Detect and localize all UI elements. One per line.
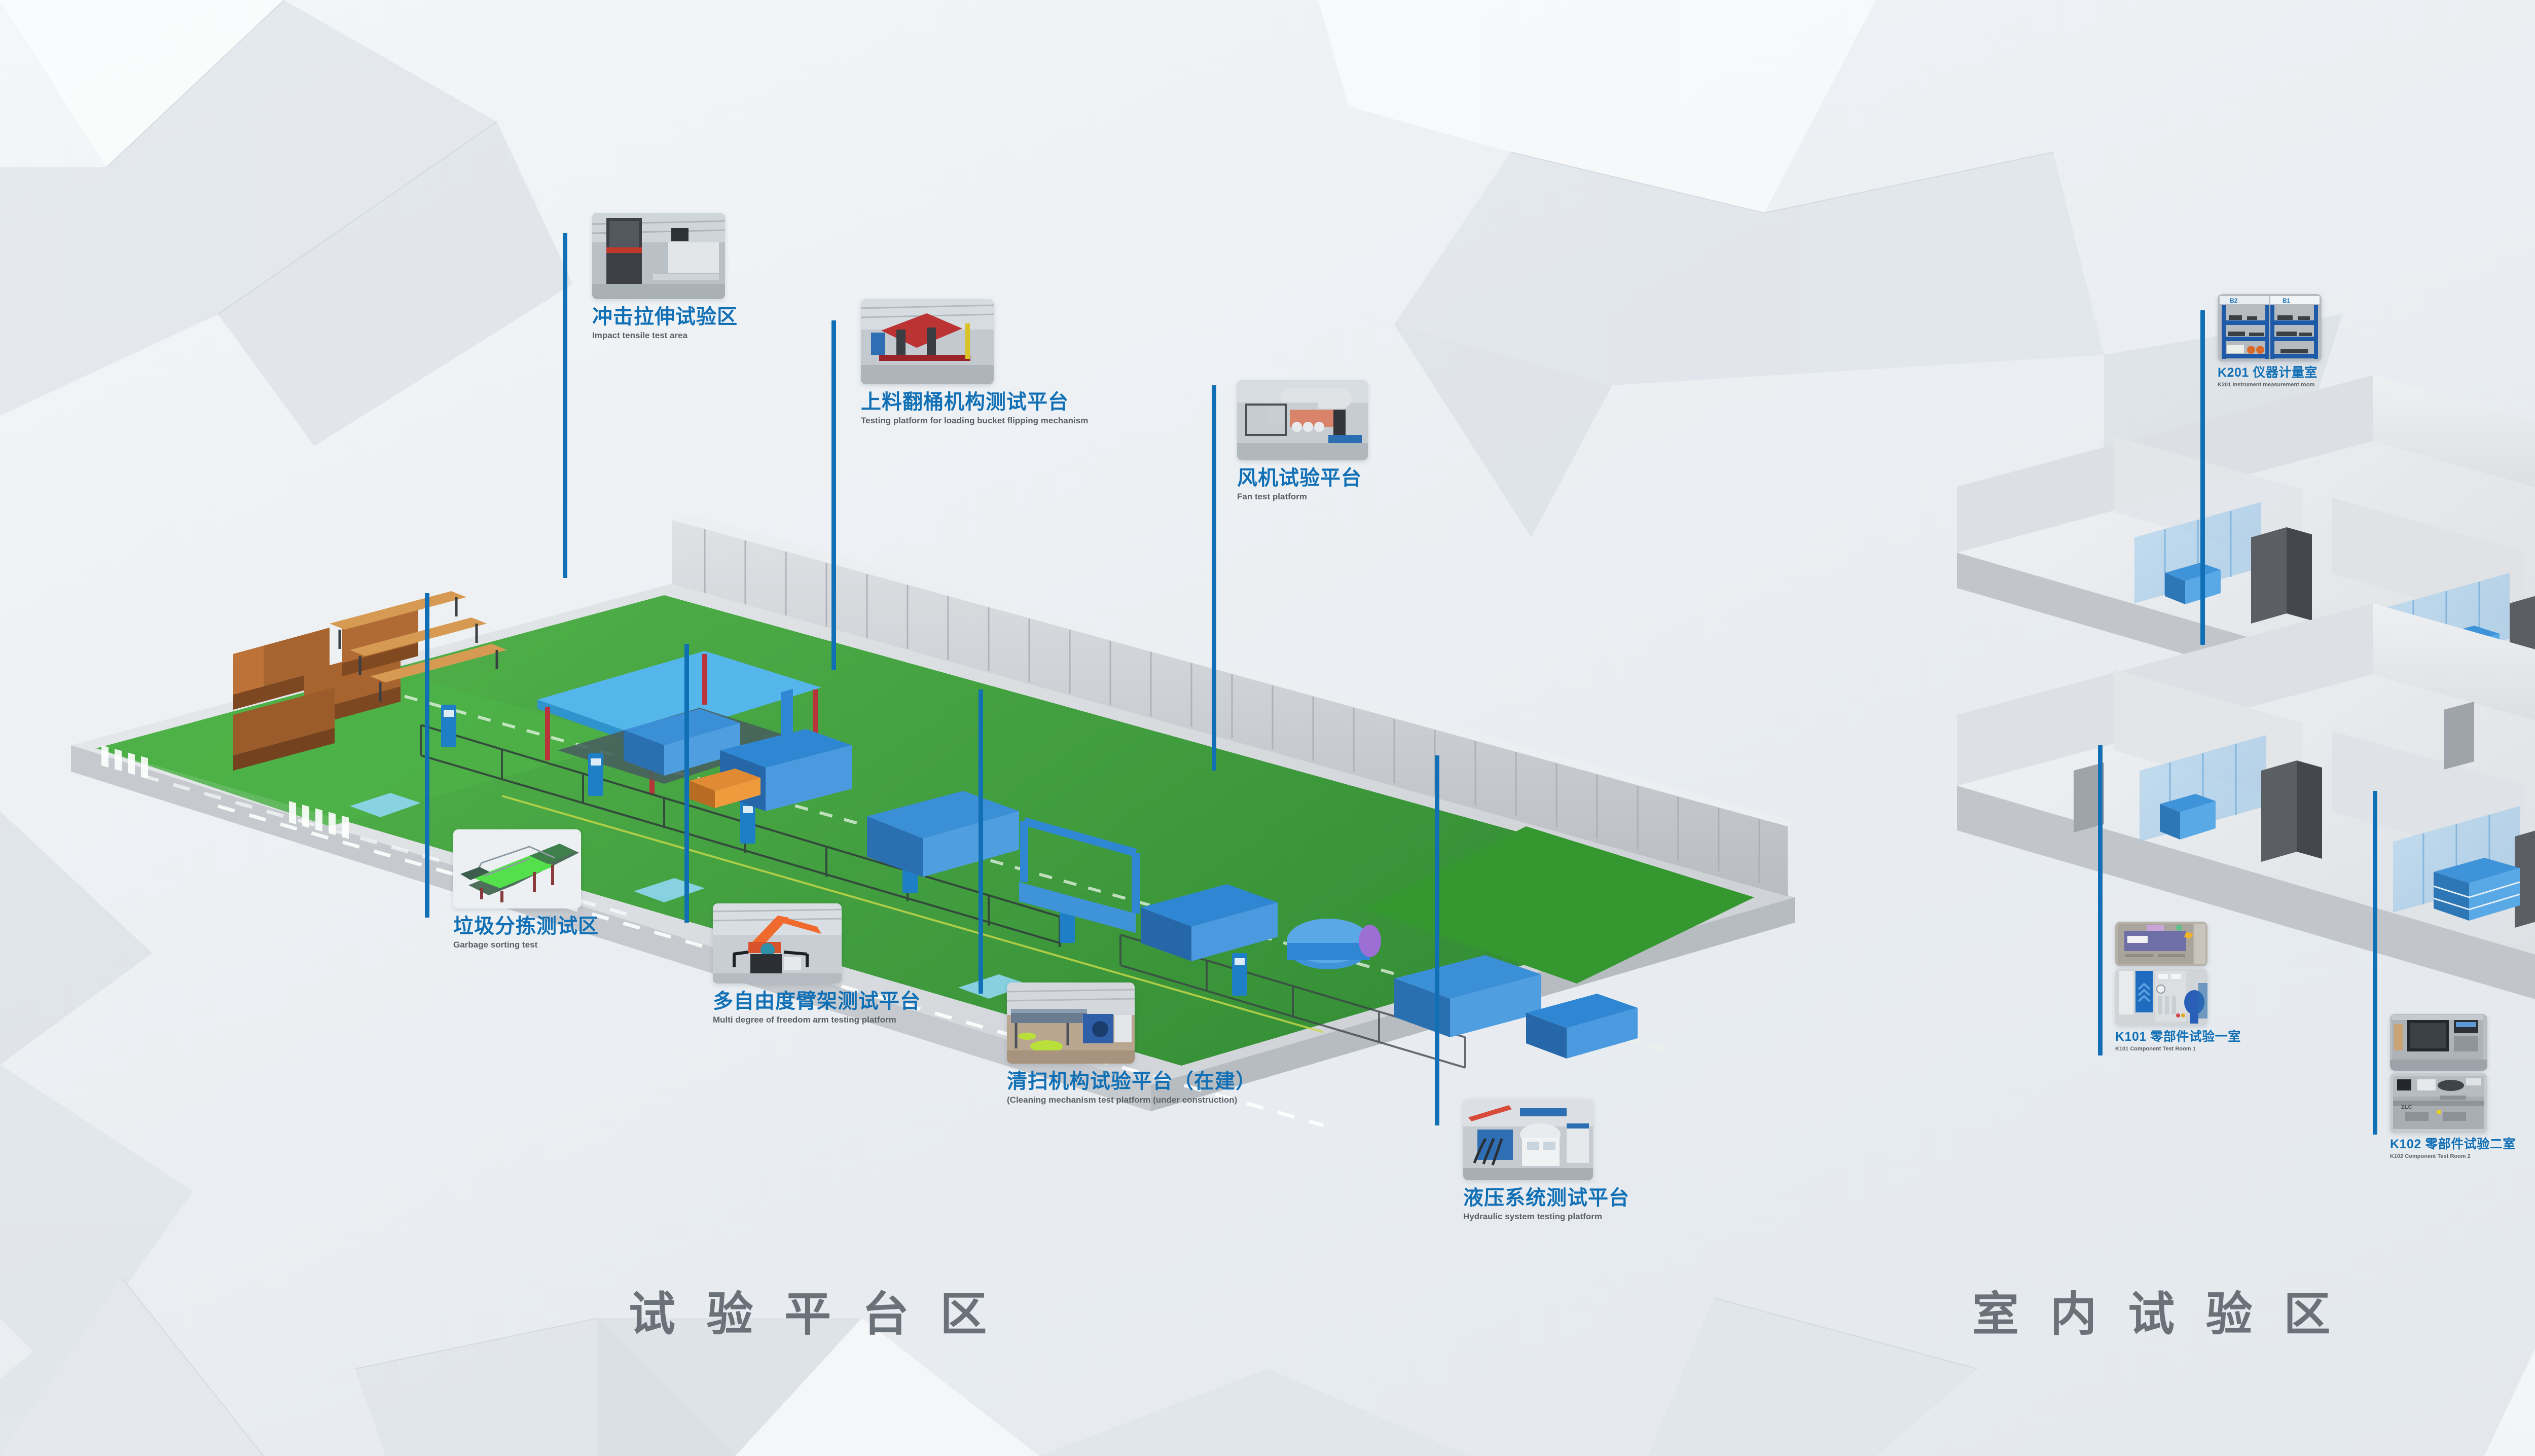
leader-line [2200,310,2205,645]
thumbnail-group: ZLC [2390,1014,2516,1133]
callout-k101-component-test-room-1[interactable]: K101 零部件试验一室 K101 Component Test Room 1 [2098,745,2265,1100]
orange-robot-arm-photo-icon [713,903,842,984]
callout-title-en: Garbage sorting test [453,940,599,950]
callout-title-cn: 液压系统测试平台 [1463,1187,1629,1209]
svg-text:ZLC: ZLC [2401,1104,2412,1110]
callout-title-cn: K101 零部件试验一室 [2115,1030,2241,1043]
svg-text:B2: B2 [2230,297,2238,304]
callout-title-cn: 风机试验平台 [1237,467,1368,489]
thumbnail-group [861,299,1088,384]
callout-title-en: Impact tensile test area [592,331,738,341]
callout-title-cn: 垃圾分拣测试区 [453,916,599,937]
section-title-test-platform-area: 试 验 平 台 区 [629,1277,996,1344]
callout-title-cn: 冲击拉伸试验区 [592,306,738,327]
sweeper-brush-rig-photo-icon [1007,982,1135,1064]
stainless-chamber-photo-icon [2390,1014,2487,1071]
callout-k102-component-test-room-2[interactable]: ZLC K102 零部件试验二室 K102 Component Test Roo… [2373,791,2535,1166]
thumbnail-group [713,903,921,984]
leader-line [684,644,689,923]
callout-title-en: Testing platform for loading bucket flip… [861,416,1088,426]
section-title-indoor-test-area: 室 内 试 验 区 [1972,1277,2339,1344]
callout-title-cn: 上料翻桶机构测试平台 [861,391,1088,413]
environmental-chamber-photo-icon [2115,922,2207,966]
thumbnail-group [1237,380,1368,460]
thumbnail-group [1463,1099,1629,1180]
leader-line [2098,745,2103,1055]
callout-title-cn: 多自由度臂架测试平台 [713,991,921,1012]
leader-line [831,320,836,670]
callout-garbage-sorting-test[interactable]: 垃圾分拣测试区 Garbage sorting test [425,593,628,989]
leader-line [563,233,567,578]
thumbnail-group [1007,982,1256,1064]
callout-title-cn: 清扫机构试验平台（在建） [1007,1071,1256,1092]
callout-impact-tensile-test-area[interactable]: 冲击拉伸试验区 Impact tensile test area [563,213,776,578]
factory-red-rig-photo-icon [861,299,994,384]
callout-title-en: K201 Instrument measurement room [2218,382,2322,388]
callout-k201-instrument-measurement-room[interactable]: B2 B1 [2200,294,2368,649]
callout-title-en: Fan test platform [1237,492,1368,502]
stainless-oven-photo-icon: ZLC [2390,1073,2487,1133]
callout-loading-bucket-flipping[interactable]: 上料翻桶机构测试平台 Testing platform for loading … [831,299,1115,664]
callout-multi-dof-arm-platform[interactable]: 多自由度臂架测试平台 Multi degree of freedom arm t… [684,644,923,1044]
callout-title-cn: K201 仪器计量室 [2218,366,2322,379]
factory-tensile-machine-photo-icon [592,213,725,299]
callout-title-en: (Cleaning mechanism test platform (under… [1007,1096,1256,1105]
callout-title-en: K101 Component Test Room 1 [2115,1046,2241,1052]
thumbnail-group [2115,922,2241,1026]
callout-title-en: K102 Component Test Room 2 [2390,1153,2516,1159]
gas-analyzer-photo-icon [2115,969,2207,1026]
thumbnail-group: B2 B1 [2218,294,2322,361]
thumbnail-group [592,213,738,299]
callout-cleaning-mechanism-platform[interactable]: 清扫机构试验平台（在建） (Cleaning mechanism test pl… [979,689,1247,1131]
leader-line [979,689,983,994]
leader-line [425,593,429,918]
callout-hydraulic-system-platform[interactable]: 液压系统测试平台 Hydraulic system testing platfo… [1435,755,1673,1242]
factory-duct-fan-photo-icon [1237,380,1368,460]
hydraulic-test-bench-photo-icon [1463,1099,1593,1180]
callout-title-en: Multi degree of freedom arm testing plat… [713,1015,921,1025]
green-conveyor-render-icon [453,829,581,908]
svg-text:B1: B1 [2283,297,2291,304]
callout-title-en: Hydraulic system testing platform [1463,1212,1629,1222]
leader-line [1435,755,1439,1125]
callout-title-cn: K102 零部件试验二室 [2390,1138,2516,1151]
leader-line [2373,791,2377,1135]
thumbnail-group [453,829,599,908]
blue-shelving-racks-photo-icon: B2 B1 [2218,294,2322,361]
